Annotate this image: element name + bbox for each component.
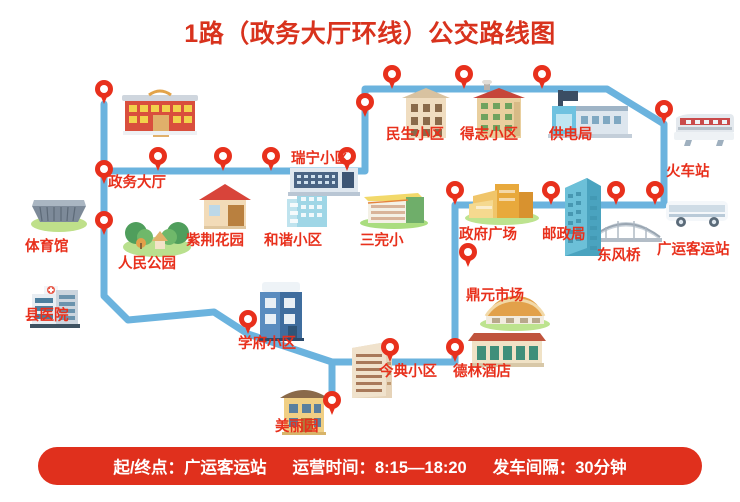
station-label-zhengwudating: 政务大厅 — [108, 176, 166, 191]
operating-hours-info: 运营时间：8:15—18:20 — [293, 454, 467, 478]
station-label-dongfengqiao: 东风桥 — [597, 249, 641, 264]
station-label-renmingongyuan: 人民公园 — [118, 257, 176, 272]
hotel-icon — [466, 327, 548, 369]
map-pin-icon — [214, 147, 232, 172]
map-pin-icon — [446, 181, 464, 206]
station-label-tiyuguan: 体育馆 — [25, 240, 69, 255]
station-label-hexiexiaoqu: 和谐小区 — [264, 234, 322, 249]
blue-house-icon — [252, 280, 308, 342]
station-label-xianyiyuan: 县医院 — [25, 309, 69, 324]
map-pin-icon — [95, 80, 113, 105]
station-label-dezhixiaoqu: 得志小区 — [460, 128, 518, 143]
map-pin-icon — [239, 310, 257, 335]
station-label-guangyunkeyunzhan: 广运客运站 — [657, 243, 730, 258]
park-icon — [122, 217, 192, 257]
station-label-meiliyuan: 美丽园 — [275, 420, 319, 435]
map-pin-icon — [607, 181, 625, 206]
map-pin-icon — [323, 391, 341, 416]
station-label-gongdianju: 供电局 — [549, 128, 593, 143]
map-pin-icon — [262, 147, 280, 172]
station-label-jindianxiaoqu: 今典小区 — [379, 365, 437, 380]
map-pin-icon — [446, 338, 464, 363]
page-title: 1路（政务大厅环线）公交路线图 — [0, 14, 740, 50]
map-pin-icon — [455, 65, 473, 90]
station-label-xuefuxiaoqu: 学府小区 — [238, 337, 296, 352]
station-label-minshengxiaoqu: 民生小区 — [386, 128, 444, 143]
station-label-zijinghuayuan: 紫荆花园 — [186, 234, 244, 249]
route-map-canvas: 政务大厅 体育馆 县医院 人民公园 紫荆花园 和谐小区 三完小 瑞宁小区 民生小… — [0, 52, 740, 430]
station-label-delinjiudian: 德林酒店 — [453, 365, 511, 380]
station-label-sanwanxiao: 三完小 — [360, 234, 404, 249]
map-pin-icon — [383, 65, 401, 90]
school-icon — [358, 187, 430, 229]
station-label-zhengfuguangchang: 政府广场 — [459, 228, 517, 243]
station-label-dingyuanshichang: 鼎元市场 — [466, 289, 524, 304]
station-label-huochezhan: 火车站 — [666, 165, 710, 180]
map-pin-icon — [542, 181, 560, 206]
government-plaza-icon — [463, 180, 541, 226]
station-label-ruiningxiaoqu: 瑞宁小区 — [291, 152, 349, 167]
train-icon — [672, 112, 736, 152]
map-pin-icon — [149, 147, 167, 172]
map-pin-icon — [459, 243, 477, 268]
map-pin-icon — [95, 211, 113, 236]
house-icon — [196, 182, 254, 230]
departure-interval-info: 发车间隔：30分钟 — [493, 454, 627, 478]
terminus-info: 起/终点：广运客运站 — [113, 454, 266, 478]
stadium-icon — [28, 192, 90, 234]
bus-icon — [664, 195, 732, 231]
map-pin-icon — [655, 100, 673, 125]
government-hall-icon — [119, 85, 201, 139]
bus-route-map-page: 1路（政务大厅环线）公交路线图 — [0, 0, 740, 502]
map-pin-icon — [356, 93, 374, 118]
route-info-bar: 起/终点：广运客运站 运营时间：8:15—18:20 发车间隔：30分钟 — [38, 447, 702, 485]
map-pin-icon — [381, 338, 399, 363]
map-pin-icon — [533, 65, 551, 90]
map-pin-icon — [646, 181, 664, 206]
station-label-youzhengju: 邮政局 — [542, 228, 586, 243]
